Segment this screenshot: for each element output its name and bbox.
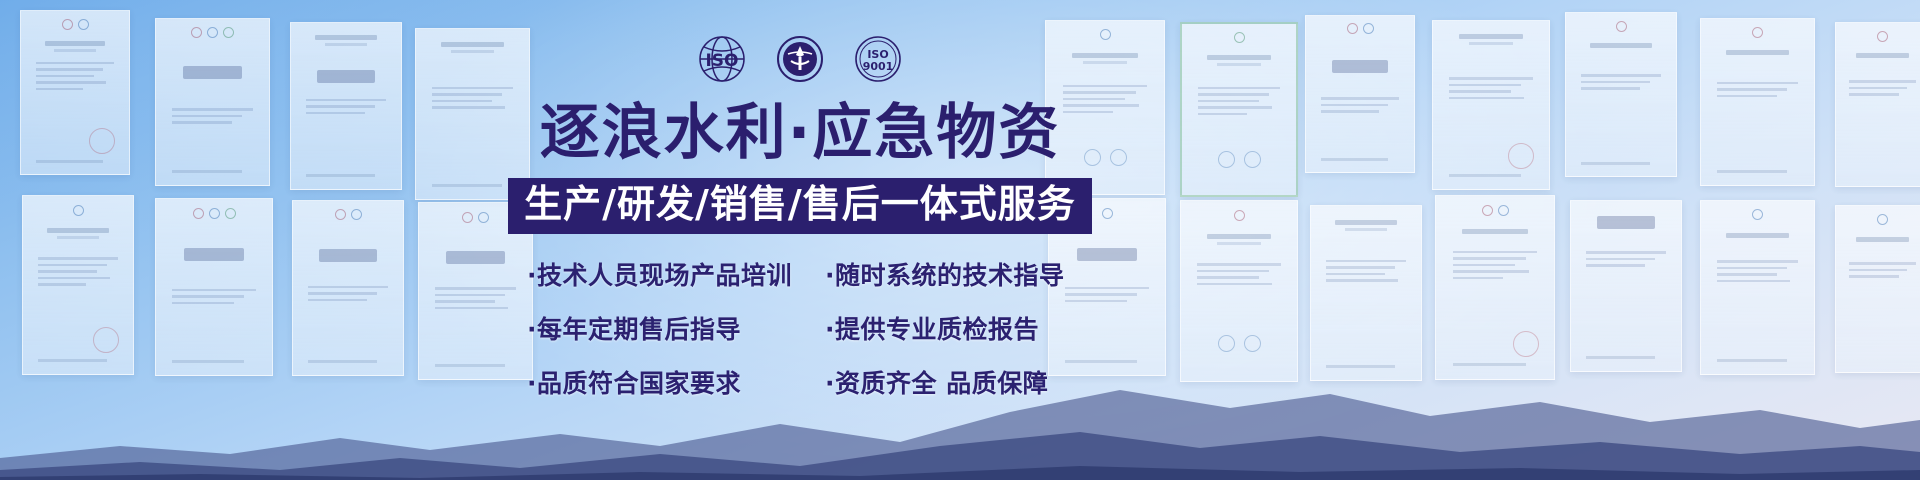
svg-text:9001: 9001	[863, 60, 894, 73]
banner-headline: 逐浪水利·应急物资	[540, 102, 1061, 165]
certificate-thumbnail	[1565, 12, 1677, 177]
feature-item: ·提供专业质检报告	[825, 310, 1073, 346]
quality-emblem-badge-icon	[774, 33, 826, 85]
iso9001-badge-icon: ISO 9001	[852, 33, 904, 85]
svg-text:ISO: ISO	[705, 51, 738, 71]
feature-list: ·技术人员现场产品培训 ·每年定期售后指导 ·品质符合国家要求 ·随时系统的技术…	[527, 256, 1073, 400]
certificate-thumbnail	[22, 195, 134, 375]
feature-column-left: ·技术人员现场产品培训 ·每年定期售后指导 ·品质符合国家要求	[527, 256, 805, 400]
feature-item: ·随时系统的技术指导	[825, 256, 1073, 292]
certificate-thumbnail	[1570, 200, 1682, 372]
feature-column-right: ·随时系统的技术指导 ·提供专业质检报告 ·资质齐全 品质保障	[825, 256, 1073, 400]
feature-item: ·品质符合国家要求	[527, 364, 805, 400]
certificate-thumbnail	[20, 10, 130, 175]
feature-item: ·每年定期售后指导	[527, 310, 805, 346]
feature-item: ·技术人员现场产品培训	[527, 256, 805, 292]
feature-item: ·资质齐全 品质保障	[825, 364, 1073, 400]
banner-content: ISO ISO 9001 逐浪水利·应急物资 生产/研发/销售/售后一体式服务	[500, 0, 1100, 480]
certificate-thumbnail	[155, 18, 270, 186]
iso-globe-badge-icon: ISO	[696, 33, 748, 85]
certificate-thumbnail	[1835, 22, 1920, 187]
certification-badge-row: ISO ISO 9001	[696, 33, 904, 85]
certificate-thumbnail	[290, 22, 402, 190]
promo-banner: ISO ISO 9001 逐浪水利·应急物资 生产/研发/销售/售后一体式服务	[0, 0, 1920, 480]
certificate-thumbnail	[1700, 18, 1815, 186]
certificate-thumbnail	[1432, 20, 1550, 190]
certificate-thumbnail	[1700, 200, 1815, 375]
certificate-thumbnail	[1180, 22, 1298, 197]
banner-subtitle-bar: 生产/研发/销售/售后一体式服务	[508, 178, 1092, 234]
certificate-thumbnail	[1305, 15, 1415, 173]
certificate-thumbnail	[1835, 205, 1920, 373]
